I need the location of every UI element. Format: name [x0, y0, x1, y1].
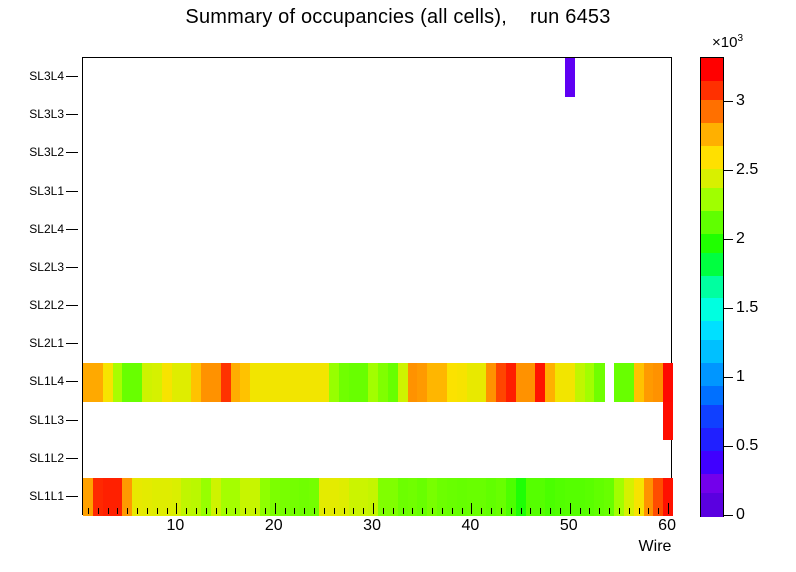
- x-axis-minor-tick: [147, 508, 148, 514]
- x-axis-minor-tick: [560, 508, 561, 514]
- y-axis-tick: [66, 305, 78, 306]
- heatmap-cell: [575, 363, 585, 402]
- heatmap-cell: [319, 363, 329, 402]
- heatmap-cell: [309, 363, 319, 402]
- heatmap-cell: [339, 363, 349, 402]
- x-axis-minor-tick: [599, 508, 600, 514]
- heatmap-cell: [152, 363, 162, 402]
- heatmap-cell: [290, 363, 300, 402]
- y-axis-tick-label: SL1L1: [29, 489, 64, 503]
- heatmap-cell: [162, 363, 172, 402]
- x-axis-minor-tick: [648, 508, 649, 514]
- x-axis-labels: 102030405060: [82, 517, 672, 539]
- colorbar-tick: [723, 308, 733, 309]
- y-axis-tick-label: SL1L2: [29, 451, 64, 465]
- y-axis-tick: [66, 381, 78, 382]
- x-axis-minor-tick: [481, 508, 482, 514]
- x-axis-minor-tick: [157, 508, 158, 514]
- heatmap-cell: [349, 363, 359, 402]
- x-axis-major-tick: [176, 503, 177, 514]
- heatmap-cell: [191, 363, 201, 402]
- y-axis-tick: [66, 114, 78, 115]
- colorbar-tick-label: 3: [736, 92, 745, 110]
- colorbar-tick: [723, 239, 733, 240]
- x-axis-major-tick: [275, 503, 276, 514]
- x-axis-minor-tick: [98, 508, 99, 514]
- x-axis-minor-tick: [462, 508, 463, 514]
- x-axis-major-tick: [373, 503, 374, 514]
- heatmap-cell: [260, 363, 270, 402]
- x-axis-minor-tick: [186, 508, 187, 514]
- heatmap-cell: [496, 363, 506, 402]
- colorbar: [700, 57, 724, 517]
- x-axis-minor-tick: [639, 508, 640, 514]
- x-axis-minor-tick: [363, 508, 364, 514]
- heatmap-cell: [358, 363, 368, 402]
- heatmap-cell: [250, 363, 260, 402]
- heatmap-cell: [211, 363, 221, 402]
- x-axis-minor-tick: [432, 508, 433, 514]
- plot-frame: [82, 57, 672, 515]
- heatmap-cell: [398, 363, 408, 402]
- x-axis-minor-tick: [265, 508, 266, 514]
- x-axis-minor-tick: [629, 508, 630, 514]
- colorbar-tick-label: 2: [736, 230, 745, 248]
- heatmap-cell: [535, 363, 545, 402]
- heatmap-cell: [555, 363, 565, 402]
- heatmap-cell: [299, 363, 309, 402]
- heatmap-cell: [585, 363, 595, 402]
- x-axis-minor-tick: [442, 508, 443, 514]
- x-axis-minor-tick: [117, 508, 118, 514]
- heatmap-cell: [388, 363, 398, 402]
- heatmap-cell: [447, 363, 457, 402]
- x-axis-tick-label: 50: [560, 517, 578, 535]
- heatmap-cell: [594, 363, 604, 402]
- x-axis-minor-tick: [403, 508, 404, 514]
- heatmap-cell: [486, 363, 496, 402]
- colorbar-tick: [723, 446, 733, 447]
- y-axis-tick-label: SL3L4: [29, 69, 64, 83]
- x-axis-minor-tick: [137, 508, 138, 514]
- colorbar-multiplier-exponent: 3: [737, 33, 743, 44]
- colorbar-multiplier-base: ×10: [712, 34, 737, 51]
- heatmap-cell: [408, 363, 418, 402]
- heatmap-cell: [172, 363, 182, 402]
- heatmap-cell: [565, 363, 575, 402]
- x-axis-minor-tick: [619, 508, 620, 514]
- colorbar-tick: [723, 377, 733, 378]
- x-axis-minor-tick: [530, 508, 531, 514]
- heatmap-cell: [516, 363, 526, 402]
- x-axis-minor-tick: [294, 508, 295, 514]
- heatmap-cell: [467, 363, 477, 402]
- x-axis-major-tick: [668, 503, 669, 514]
- x-axis-minor-tick: [167, 508, 168, 514]
- heatmap-cell: [142, 363, 152, 402]
- heatmap-cell: [221, 363, 231, 402]
- heatmap-cell: [270, 363, 280, 402]
- x-axis-tick-label: 60: [658, 517, 676, 535]
- heatmap-cell: [240, 363, 250, 402]
- x-axis-minor-tick: [255, 508, 256, 514]
- x-axis-minor-tick: [245, 508, 246, 514]
- heatmap-cell: [663, 363, 673, 402]
- colorbar-tick-label: 0: [736, 506, 745, 524]
- x-axis-tick-label: 10: [167, 517, 185, 535]
- heatmap-cell: [417, 363, 427, 402]
- colorbar-tick: [723, 170, 733, 171]
- x-axis-minor-tick: [501, 508, 502, 514]
- x-axis-minor-tick: [491, 508, 492, 514]
- heatmap-cell: [368, 363, 378, 402]
- x-axis-minor-tick: [226, 508, 227, 514]
- heatmap-cell: [378, 363, 388, 402]
- heatmap-cell: [565, 58, 575, 97]
- x-axis-minor-tick: [412, 508, 413, 514]
- y-axis-labels: SL3L4SL3L3SL3L2SL3L1SL2L4SL2L3SL2L2SL2L1…: [0, 57, 78, 515]
- x-axis-tick-label: 40: [462, 517, 480, 535]
- x-axis-minor-tick: [285, 508, 286, 514]
- x-axis-minor-tick: [521, 508, 522, 514]
- heatmap-cell: [132, 363, 142, 402]
- heatmap-cell: [545, 363, 555, 402]
- colorbar-tick: [723, 101, 733, 102]
- x-axis-major-tick: [570, 503, 571, 514]
- colorbar-multiplier: ×103: [712, 33, 743, 51]
- y-axis-tick: [66, 343, 78, 344]
- colorbar-tick-label: 2.5: [736, 161, 758, 179]
- y-axis-tick: [66, 420, 78, 421]
- x-axis-minor-tick: [235, 508, 236, 514]
- heatmap-cell: [663, 402, 673, 441]
- y-axis-tick-label: SL2L1: [29, 336, 64, 350]
- x-axis-minor-tick: [609, 508, 610, 514]
- x-axis-minor-tick: [511, 508, 512, 514]
- x-axis-minor-tick: [658, 508, 659, 514]
- y-axis-tick-label: SL3L2: [29, 145, 64, 159]
- heatmap-cell: [644, 363, 654, 402]
- heatmap-cell: [280, 363, 290, 402]
- heatmap-cell: [614, 363, 624, 402]
- x-axis-title: Wire: [620, 538, 690, 556]
- y-axis-tick-label: SL3L3: [29, 107, 64, 121]
- x-axis-minor-tick: [216, 508, 217, 514]
- heatmap-cell: [457, 363, 467, 402]
- heatmap-cell: [103, 363, 113, 402]
- y-axis-tick: [66, 229, 78, 230]
- y-axis-tick: [66, 267, 78, 268]
- heatmap-cell: [506, 363, 516, 402]
- y-axis-tick: [66, 76, 78, 77]
- x-axis-minor-tick: [550, 508, 551, 514]
- y-axis-tick-label: SL1L3: [29, 413, 64, 427]
- heatmap-cell: [231, 363, 241, 402]
- x-axis-tick-label: 20: [265, 517, 283, 535]
- y-axis-tick-label: SL2L4: [29, 222, 64, 236]
- heatmap-cells: [83, 58, 671, 514]
- chart-title: Summary of occupancies (all cells), run …: [0, 6, 796, 29]
- heatmap-cell: [83, 363, 93, 402]
- heatmap-cell: [329, 363, 339, 402]
- heatmap-cell: [181, 363, 191, 402]
- colorbar-tick-label: 0.5: [736, 437, 758, 455]
- x-axis-minor-tick: [580, 508, 581, 514]
- x-axis-minor-tick: [304, 508, 305, 514]
- x-axis-minor-tick: [324, 508, 325, 514]
- heatmap-cell: [122, 363, 132, 402]
- y-axis-tick-label: SL2L2: [29, 298, 64, 312]
- x-axis-tick-label: 30: [363, 517, 381, 535]
- heatmap-cell: [526, 363, 536, 402]
- heatmap-cell: [634, 363, 644, 402]
- x-axis-minor-tick: [127, 508, 128, 514]
- heatmap-cell: [93, 363, 103, 402]
- heatmap-cell: [427, 363, 437, 402]
- x-axis-minor-tick: [314, 508, 315, 514]
- x-axis-minor-tick: [206, 508, 207, 514]
- heatmap-cell: [653, 363, 663, 402]
- root-canvas: Summary of occupancies (all cells), run …: [0, 0, 796, 572]
- x-axis-minor-tick: [344, 508, 345, 514]
- x-axis-minor-tick: [334, 508, 335, 514]
- y-axis-tick-label: SL1L4: [29, 374, 64, 388]
- x-axis-minor-tick: [589, 508, 590, 514]
- heatmap-cell: [437, 363, 447, 402]
- colorbar-band: [701, 512, 723, 516]
- y-axis-tick: [66, 496, 78, 497]
- x-axis-major-tick: [471, 503, 472, 514]
- heatmap-cell: [113, 363, 123, 402]
- colorbar-tick: [723, 515, 733, 516]
- x-axis-minor-tick: [108, 508, 109, 514]
- heatmap-cell: [624, 363, 634, 402]
- x-axis-minor-tick: [452, 508, 453, 514]
- x-axis-minor-tick: [196, 508, 197, 514]
- x-axis-minor-tick: [88, 508, 89, 514]
- x-axis-minor-tick: [393, 508, 394, 514]
- colorbar-tick-label: 1: [736, 368, 745, 386]
- y-axis-tick-label: SL2L3: [29, 260, 64, 274]
- y-axis-tick: [66, 152, 78, 153]
- y-axis-tick: [66, 458, 78, 459]
- x-axis-minor-tick: [353, 508, 354, 514]
- heatmap-cell: [201, 363, 211, 402]
- x-axis-minor-tick: [540, 508, 541, 514]
- x-axis-minor-tick: [422, 508, 423, 514]
- x-axis-minor-tick: [383, 508, 384, 514]
- y-axis-tick: [66, 191, 78, 192]
- y-axis-tick-label: SL3L1: [29, 184, 64, 198]
- colorbar-tick-label: 1.5: [736, 299, 758, 317]
- heatmap-cell: [476, 363, 486, 402]
